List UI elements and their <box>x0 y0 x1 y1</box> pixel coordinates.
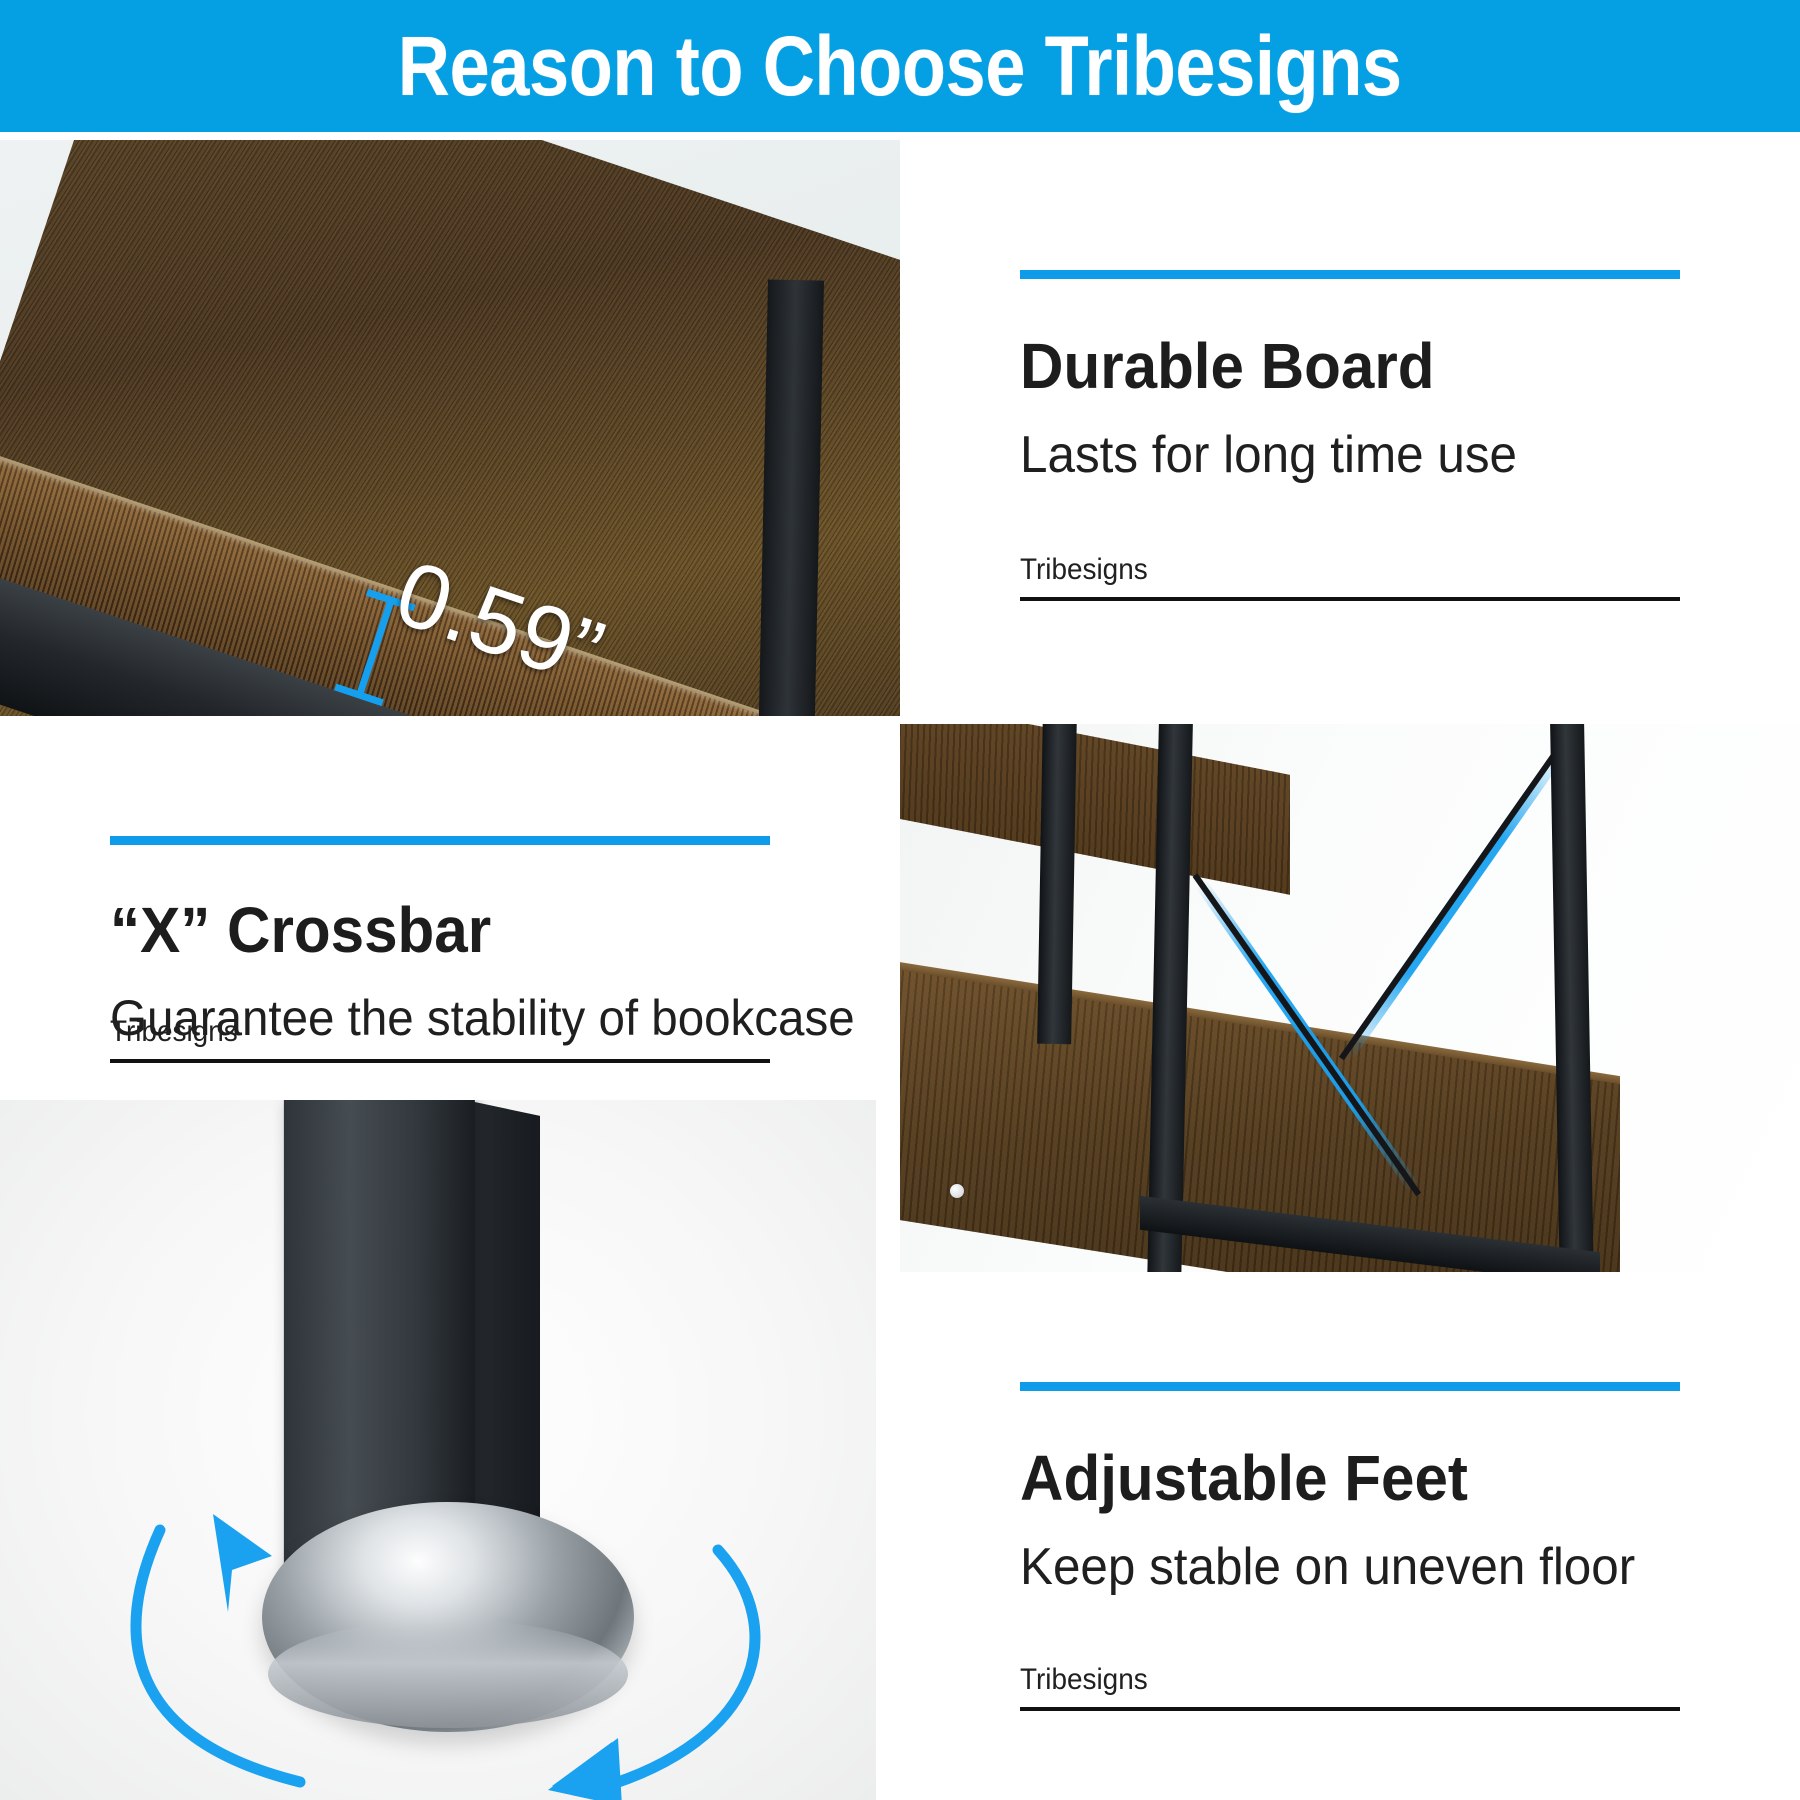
adjustable-feet-photo <box>0 1100 876 1800</box>
brand-label: Tribesigns <box>1020 553 1634 587</box>
infographic-page: Reason to Choose Tribesigns 0.59” Durabl… <box>0 0 1800 1800</box>
feature-card-adjustable-feet: Adjustable Feet Keep stable on uneven fl… <box>1020 1382 1680 1711</box>
card-heading: Adjustable Feet <box>1020 1441 1640 1515</box>
rotation-arrows-icon <box>0 1100 876 1800</box>
brand-label: Tribesigns <box>110 1015 724 1049</box>
shelf-screw-icon <box>950 1184 964 1198</box>
feature-card-durable-board: Durable Board Lasts for long time use Tr… <box>1020 270 1680 601</box>
brand-label: Tribesigns <box>1020 1663 1634 1697</box>
brand-rule <box>1020 1707 1680 1711</box>
page-title: Reason to Choose Tribesigns <box>398 18 1402 115</box>
card-subtitle: Keep stable on uneven floor <box>1020 1537 1647 1597</box>
brand-block-crossbar-card: Tribesigns <box>110 1015 770 1063</box>
brand-rule <box>110 1059 770 1063</box>
board-thickness-photo: 0.59” <box>0 140 900 716</box>
accent-rule <box>110 836 770 845</box>
x-crossbar-photo <box>900 724 1800 1272</box>
metal-post-rear <box>1037 724 1077 1044</box>
accent-rule <box>1020 270 1680 279</box>
card-heading: Durable Board <box>1020 329 1640 403</box>
brand-rule <box>1020 597 1680 601</box>
accent-rule <box>1020 1382 1680 1391</box>
card-subtitle: Lasts for long time use <box>1020 425 1647 485</box>
metal-frame-leg <box>756 279 824 716</box>
header-banner: Reason to Choose Tribesigns <box>0 0 1800 132</box>
card-heading: “X” Crossbar <box>110 893 730 967</box>
